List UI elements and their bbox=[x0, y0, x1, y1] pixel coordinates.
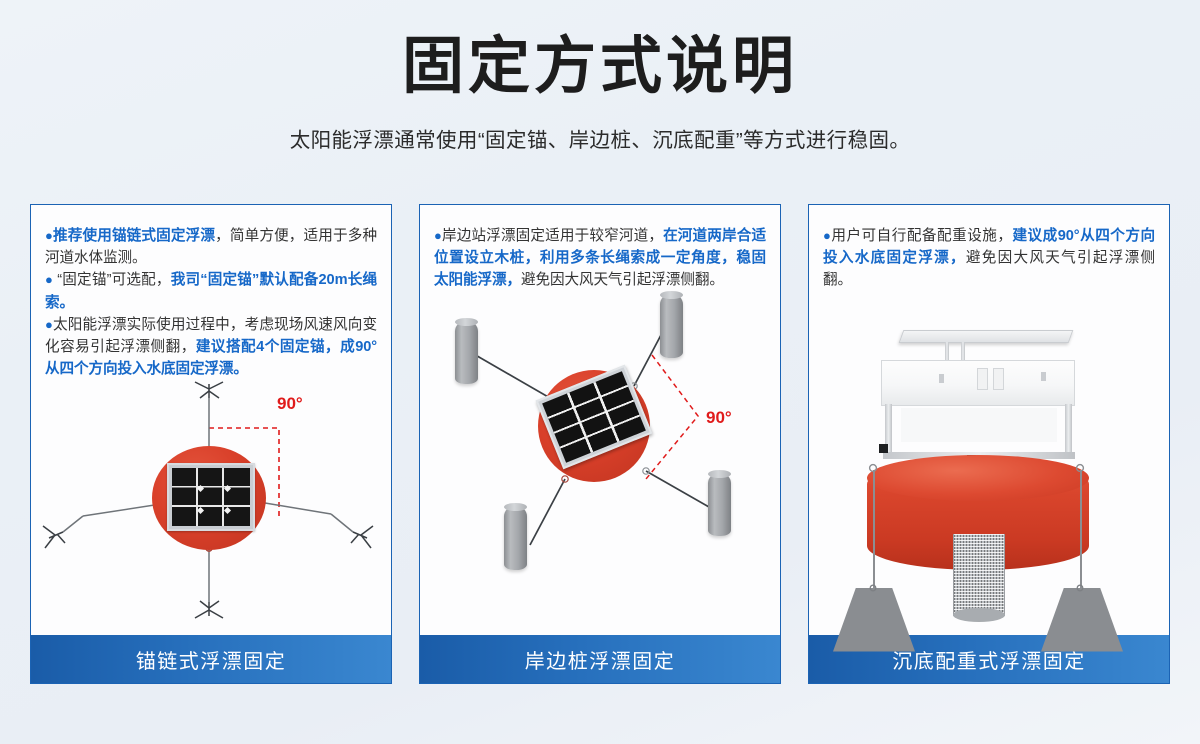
figure-bottom-ballast bbox=[809, 292, 1169, 635]
text-segment: 推荐使用锚链式固定浮漂 bbox=[53, 228, 215, 244]
card-bottom-ballast-description: ●用户可自行配备配重设施，建议成90°从四个方向投入水底固定浮漂，避免因大风天气… bbox=[809, 205, 1169, 292]
card-anchor-chain[interactable]: ●推荐使用锚链式固定浮漂，简单方便，适用于多种河道水体监测。 ● “固定锚”可选… bbox=[30, 204, 392, 684]
paragraph: ● “固定锚”可选配，我司“固定锚”默认配备20m长绳索。 bbox=[45, 269, 377, 313]
card-shore-pile-footer-label: 岸边桩浮漂固定 bbox=[420, 635, 780, 683]
text-segment: “固定锚”可选配， bbox=[53, 272, 171, 288]
ballast-shackles bbox=[809, 292, 1170, 672]
pile-post-top-left bbox=[455, 321, 478, 384]
paragraph: ●用户可自行配备配重设施，建议成90°从四个方向投入水底固定浮漂，避免因大风天气… bbox=[823, 225, 1155, 292]
solar-panel-top-view bbox=[167, 463, 255, 531]
card-shore-pile-description: ●岸边站浮漂固定适用于较窄河道，在河道两岸合适位置设立木桩，利用多条长绳索成一定… bbox=[420, 205, 780, 292]
bullet-icon: ● bbox=[45, 317, 53, 332]
anchor-icon-right bbox=[351, 526, 373, 548]
pile-post-top-right bbox=[660, 294, 683, 358]
anchor-icon-top bbox=[195, 382, 223, 398]
text-segment: 用户可自行配备配重设施， bbox=[831, 228, 1012, 244]
anchor-icon-left bbox=[43, 526, 65, 548]
pile-post-bottom-left bbox=[504, 506, 527, 570]
paragraph: ●太阳能浮漂实际使用过程中，考虑现场风速风向变化容易引起浮漂侧翻，建议搭配4个固… bbox=[45, 314, 377, 381]
fixing-method-card-row: ●推荐使用锚链式固定浮漂，简单方便，适用于多种河道水体监测。 ● “固定锚”可选… bbox=[30, 204, 1170, 684]
figure-anchor-chain: 90° bbox=[31, 380, 391, 635]
card-bottom-ballast[interactable]: ●用户可自行配备配重设施，建议成90°从四个方向投入水底固定浮漂，避免因大风天气… bbox=[808, 204, 1170, 684]
card-anchor-chain-description: ●推荐使用锚链式固定浮漂，简单方便，适用于多种河道水体监测。 ● “固定锚”可选… bbox=[31, 205, 391, 380]
solar-panel-cells bbox=[172, 468, 250, 526]
text-segment: 岸边站浮漂固定适用于较窄河道， bbox=[442, 228, 663, 244]
anchor-icon-bottom bbox=[195, 601, 223, 618]
card-shore-pile[interactable]: ●岸边站浮漂固定适用于较窄河道，在河道两岸合适位置设立木桩，利用多条长绳索成一定… bbox=[419, 204, 781, 684]
bullet-icon: ● bbox=[45, 272, 53, 287]
card-anchor-chain-footer-label: 锚链式浮漂固定 bbox=[31, 635, 391, 683]
bullet-icon: ● bbox=[434, 228, 442, 243]
page-title: 固定方式说明 bbox=[0, 30, 1200, 101]
angle-label-90-card2: 90° bbox=[706, 408, 732, 428]
page-header: 固定方式说明 太阳能浮漂通常使用“固定锚、岸边桩、沉底配重”等方式进行稳固。 bbox=[0, 0, 1200, 153]
figure-shore-pile: 90° bbox=[420, 292, 780, 635]
bullet-icon: ● bbox=[45, 228, 53, 243]
page-subtitle: 太阳能浮漂通常使用“固定锚、岸边桩、沉底配重”等方式进行稳固。 bbox=[0, 123, 1200, 153]
pile-post-bottom-right bbox=[708, 473, 731, 536]
paragraph: ●推荐使用锚链式固定浮漂，简单方便，适用于多种河道水体监测。 bbox=[45, 225, 377, 269]
